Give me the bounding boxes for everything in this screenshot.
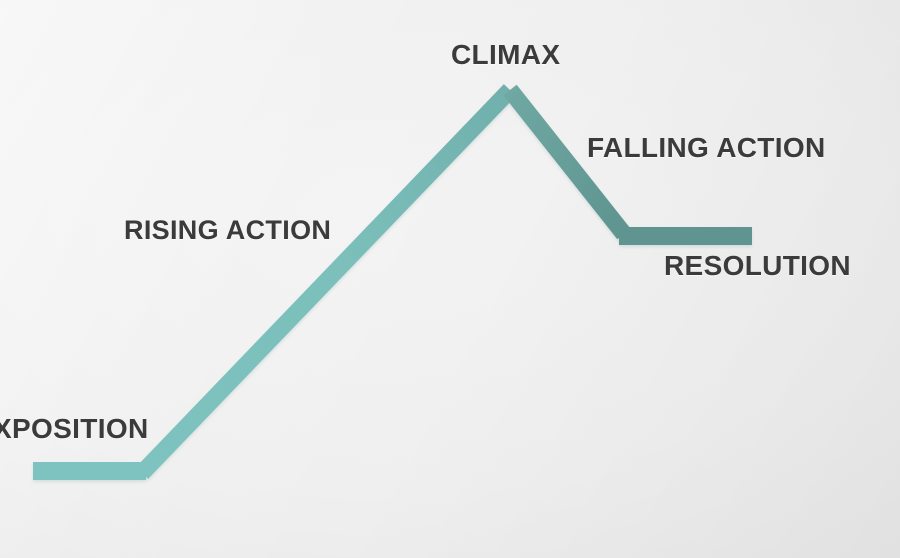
narrative-arc-diagram: EXPOSITION RISING ACTION CLIMAX FALLING … [0,0,900,558]
label-climax: CLIMAX [451,41,560,69]
label-exposition: EXPOSITION [0,415,149,443]
segment-rising-action [142,90,510,473]
label-falling-action: FALLING ACTION [587,134,826,162]
label-resolution: RESOLUTION [664,252,851,280]
label-rising-action: RISING ACTION [124,217,331,244]
